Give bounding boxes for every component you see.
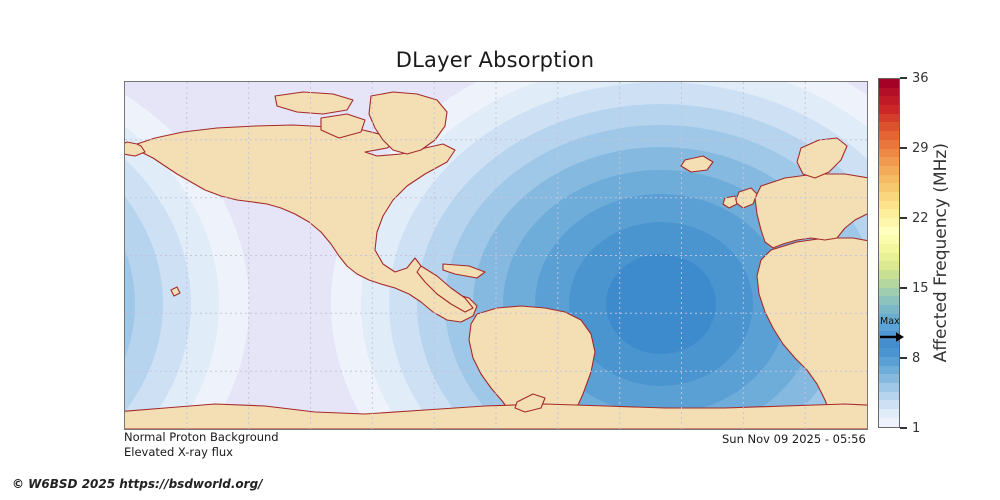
colorbar-band: [879, 288, 899, 297]
note-xray-flux: Elevated X-ray flux: [124, 445, 279, 460]
note-proton-background: Normal Proton Background: [124, 430, 279, 445]
colorbar-band: [879, 96, 899, 105]
colorbar-band: [879, 400, 899, 409]
tick-label: 15: [912, 282, 929, 295]
colorbar-gradient: [878, 78, 900, 428]
colorbar-band: [879, 392, 899, 401]
tick-mark: [900, 357, 907, 358]
colorbar-band: [879, 114, 899, 123]
colorbar-band: [879, 175, 899, 184]
colorbar-band: [879, 340, 899, 349]
colorbar-band: [879, 383, 899, 392]
colorbar-band: [879, 79, 899, 88]
tick-label: 8: [912, 352, 920, 365]
world-map-svg: [125, 82, 867, 429]
colorbar-band: [879, 88, 899, 97]
colorbar-band: [879, 279, 899, 288]
colorbar-band: [879, 409, 899, 418]
colorbar-band: [879, 322, 899, 331]
colorbar-band: [879, 201, 899, 210]
colorbar-band: [879, 261, 899, 270]
tick-label: 22: [912, 212, 929, 225]
timestamp: Sun Nov 09 2025 - 05:56: [722, 432, 866, 446]
colorbar-band: [879, 140, 899, 149]
colorbar-band: [879, 218, 899, 227]
colorbar-band: [879, 227, 899, 236]
colorbar-band: [879, 105, 899, 114]
dlayer-absorption-map-figure: DLayer Absorption: [0, 0, 1000, 500]
tick-label: 1: [912, 422, 920, 435]
colorbar-band: [879, 348, 899, 357]
colorbar-band: [879, 314, 899, 323]
tick-mark: [900, 147, 907, 148]
copyright-notice: © W6BSD 2025 https://bsdworld.org/: [12, 477, 263, 491]
colorbar-band: [879, 331, 899, 340]
colorbar-band: [879, 270, 899, 279]
colorbar[interactable]: 3629221581: [878, 78, 900, 428]
tick-mark: [900, 77, 907, 78]
tick-label: 36: [912, 72, 929, 85]
colorbar-band: [879, 305, 899, 314]
colorbar-band: [879, 183, 899, 192]
tick-mark: [900, 217, 907, 218]
colorbar-band: [879, 357, 899, 366]
tick-mark: [900, 287, 907, 288]
world-map-panel[interactable]: [124, 81, 868, 430]
colorbar-band: [879, 149, 899, 158]
colorbar-band: [879, 192, 899, 201]
tick-label: 29: [912, 142, 929, 155]
status-notes: Normal Proton Background Elevated X-ray …: [124, 430, 279, 460]
colorbar-band: [879, 253, 899, 262]
colorbar-band: [879, 235, 899, 244]
colorbar-axis-label-text: Affected Frequency (MHz): [931, 143, 951, 362]
colorbar-band: [879, 131, 899, 140]
tick-mark: [900, 427, 907, 428]
colorbar-axis-label: Affected Frequency (MHz): [930, 78, 952, 428]
colorbar-band: [879, 209, 899, 218]
colorbar-band: [879, 418, 899, 427]
colorbar-band: [879, 122, 899, 131]
colorbar-band: [879, 374, 899, 383]
colorbar-band: [879, 296, 899, 305]
colorbar-band: [879, 366, 899, 375]
colorbar-band: [879, 166, 899, 175]
colorbar-band: [879, 244, 899, 253]
page-title: DLayer Absorption: [0, 48, 990, 72]
colorbar-band: [879, 157, 899, 166]
